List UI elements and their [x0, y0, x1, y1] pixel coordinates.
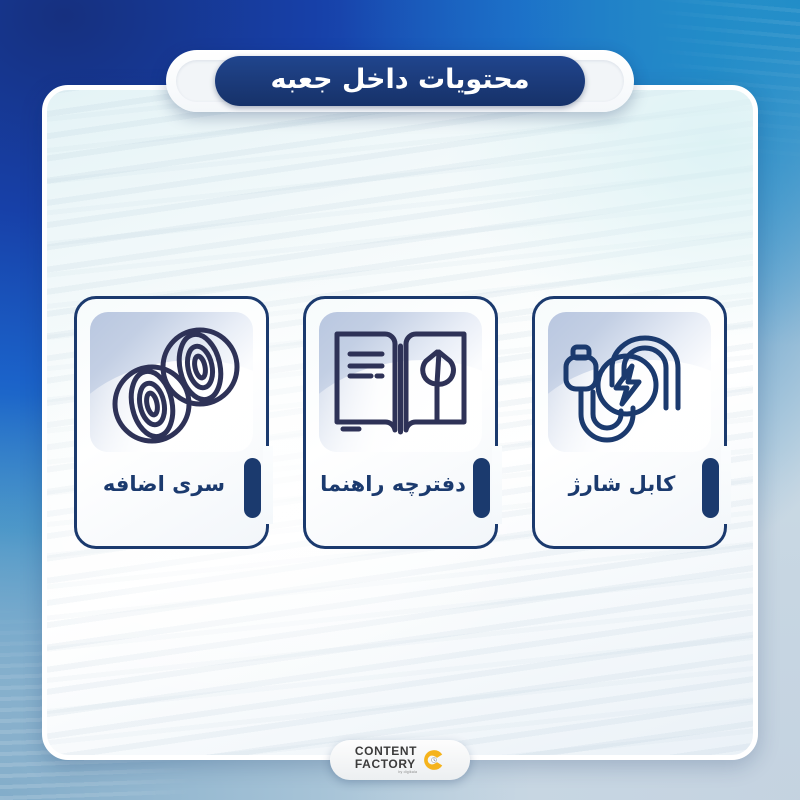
brand-line-1: CONTENT [355, 745, 417, 757]
brand-line-2: FACTORY [355, 758, 417, 770]
poster-canvas: محتویات داخل جعبه [0, 0, 800, 800]
title-pill: محتویات داخل جعبه [215, 56, 585, 106]
content-factory-c-logo-icon [423, 749, 445, 771]
extra-eartips-icon [90, 312, 253, 452]
manual-book-wrench-icon [319, 312, 482, 452]
card-manual-book[interactable]: دفترچه راهنما [303, 296, 498, 549]
page-title: محتویات داخل جعبه [270, 66, 529, 96]
card-label: کابل شارژ [532, 472, 727, 496]
card-charging-cable[interactable]: کابل شارژ [532, 296, 727, 549]
card-label: سری اضافه [74, 472, 269, 496]
card-label: دفترچه راهنما [303, 472, 498, 496]
title-banner: محتویات داخل جعبه [166, 50, 634, 112]
cards-row: کابل شارژ [42, 296, 758, 549]
brand-text: CONTENT FACTORY by digikala [355, 745, 417, 774]
brand-subtitle: by digikala [355, 771, 417, 775]
card-extra-eartips[interactable]: سری اضافه [74, 296, 269, 549]
charging-cable-icon [548, 312, 711, 452]
footer-brand-logo[interactable]: CONTENT FACTORY by digikala [330, 740, 470, 780]
